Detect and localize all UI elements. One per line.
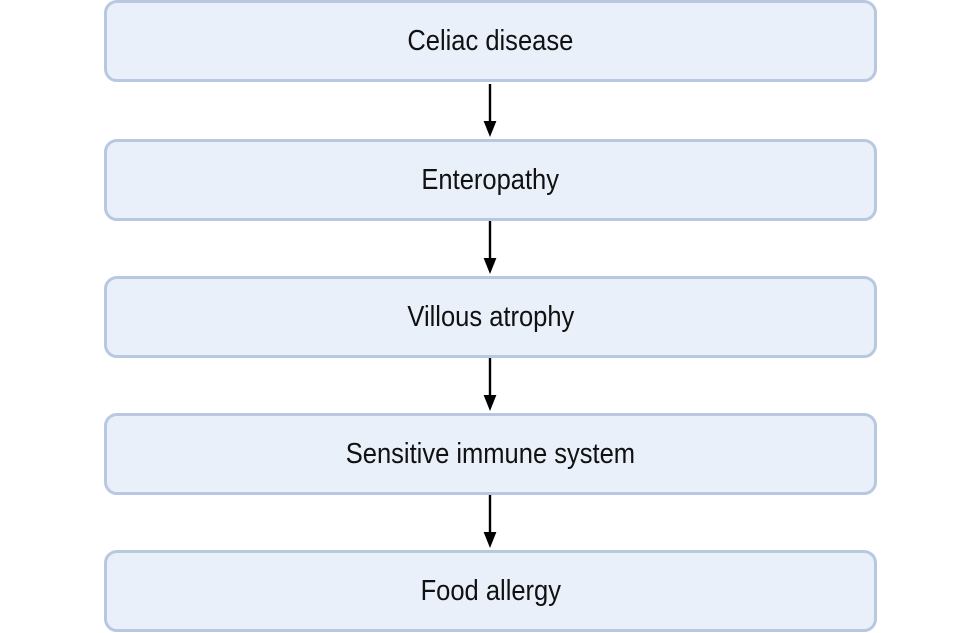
arrow-down-icon	[484, 495, 497, 548]
node-label: Enteropathy	[422, 166, 560, 195]
node-label: Villous atrophy	[407, 303, 574, 332]
arrow-down-icon	[484, 221, 497, 274]
node-label: Food allergy	[420, 577, 560, 606]
flowchart-node-villous-atrophy[interactable]: Villous atrophy	[104, 276, 877, 358]
flowchart-edge-1	[455, 80, 525, 140]
flowchart-edge-3	[455, 354, 525, 414]
arrow-down-icon	[484, 84, 497, 137]
flowchart-node-celiac-disease[interactable]: Celiac disease	[104, 0, 877, 82]
flowchart-node-enteropathy[interactable]: Enteropathy	[104, 139, 877, 221]
flowchart-node-food-allergy[interactable]: Food allergy	[104, 550, 877, 632]
flowchart-edge-4	[455, 491, 525, 551]
node-label: Celiac disease	[408, 27, 574, 56]
flowchart-edge-2	[455, 217, 525, 277]
flowchart-node-sensitive-immune-system[interactable]: Sensitive immune system	[104, 413, 877, 495]
arrow-down-icon	[484, 358, 497, 411]
flowchart-diagram: Celiac disease Enteropathy Villous atrop…	[0, 0, 980, 633]
node-label: Sensitive immune system	[346, 440, 635, 469]
